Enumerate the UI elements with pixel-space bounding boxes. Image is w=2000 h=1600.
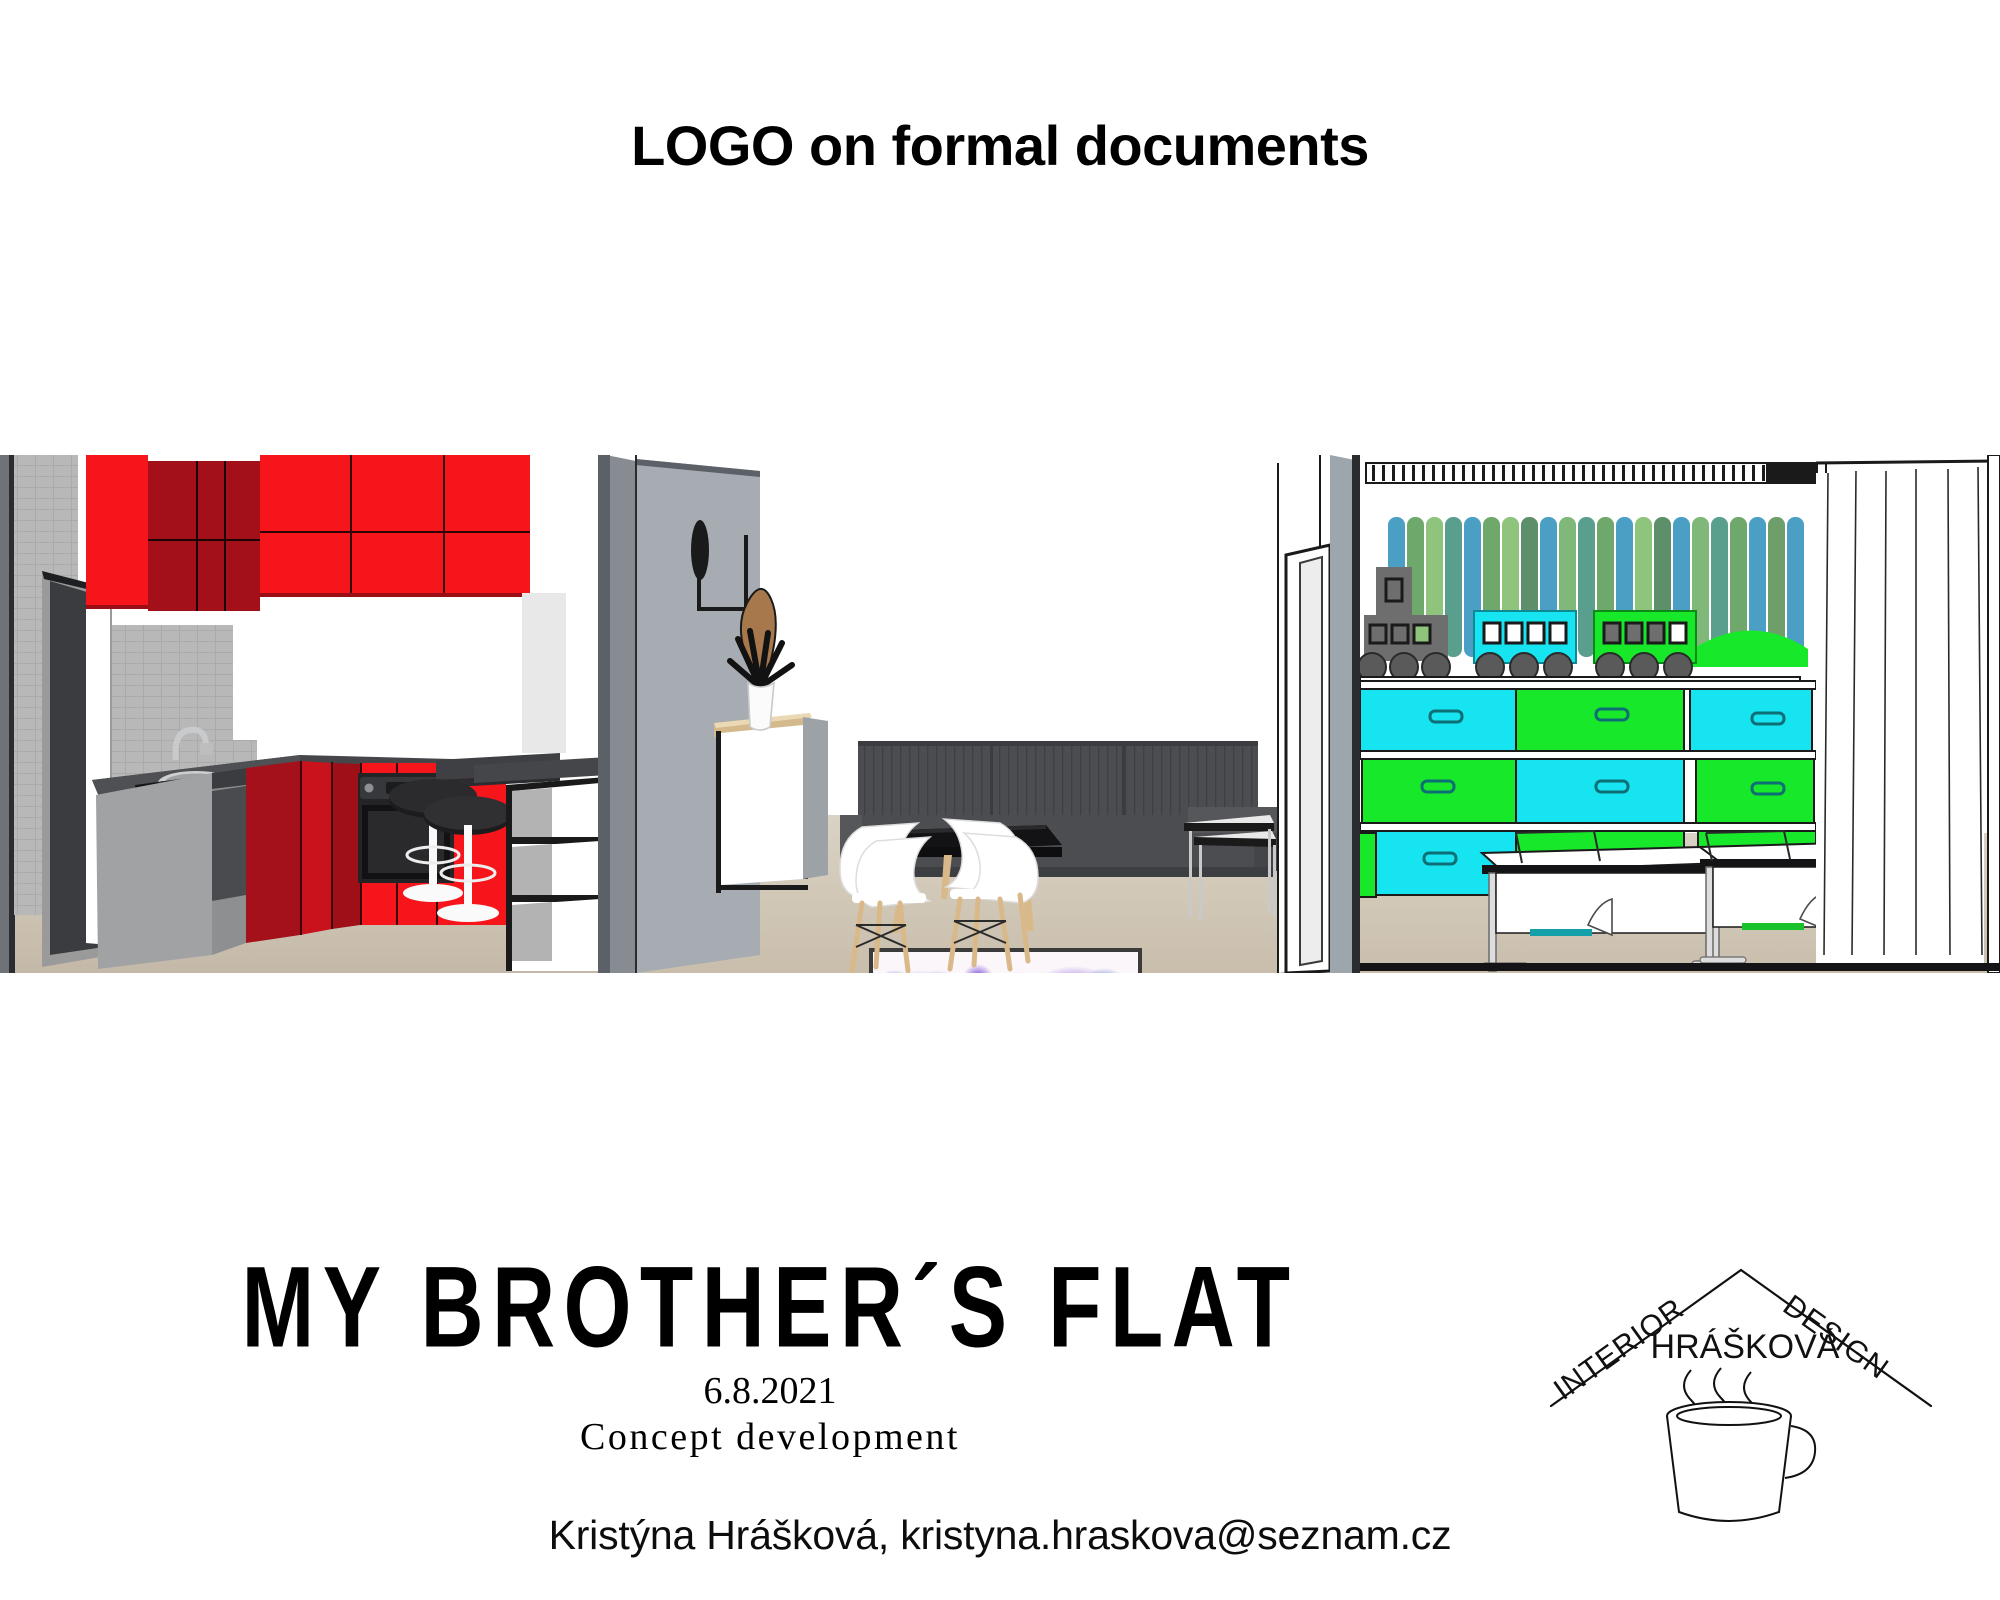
- curtain-rail: [1366, 463, 1826, 483]
- render-panorama-svg: [0, 455, 2000, 973]
- console-table: [714, 713, 828, 893]
- kitchen-open-shelving: [506, 777, 606, 971]
- title-block: MY BROTHER´S FLAT 6.8.2021 Concept devel…: [0, 1250, 1540, 1456]
- coffee-cup-icon: [1667, 1402, 1815, 1521]
- logo-name: HRÁŠKOVÁ: [1651, 1328, 1840, 1366]
- title-subtitle: Concept development: [0, 1418, 1540, 1456]
- kids-room: [1352, 455, 2000, 973]
- living-dining-room: [636, 455, 1326, 973]
- logo-placement-note: LOGO on formal documents: [0, 118, 2000, 174]
- title-date: 6.8.2021: [0, 1372, 1540, 1410]
- kitchen-room: [0, 455, 640, 973]
- curtain-panel: [1816, 461, 1996, 963]
- page-title: MY BROTHER´S FLAT: [54, 1250, 1486, 1365]
- interior-render-panorama: [0, 455, 2000, 973]
- author-contact: Kristýna Hrášková, kristyna.hraskova@sez…: [0, 1512, 2000, 1559]
